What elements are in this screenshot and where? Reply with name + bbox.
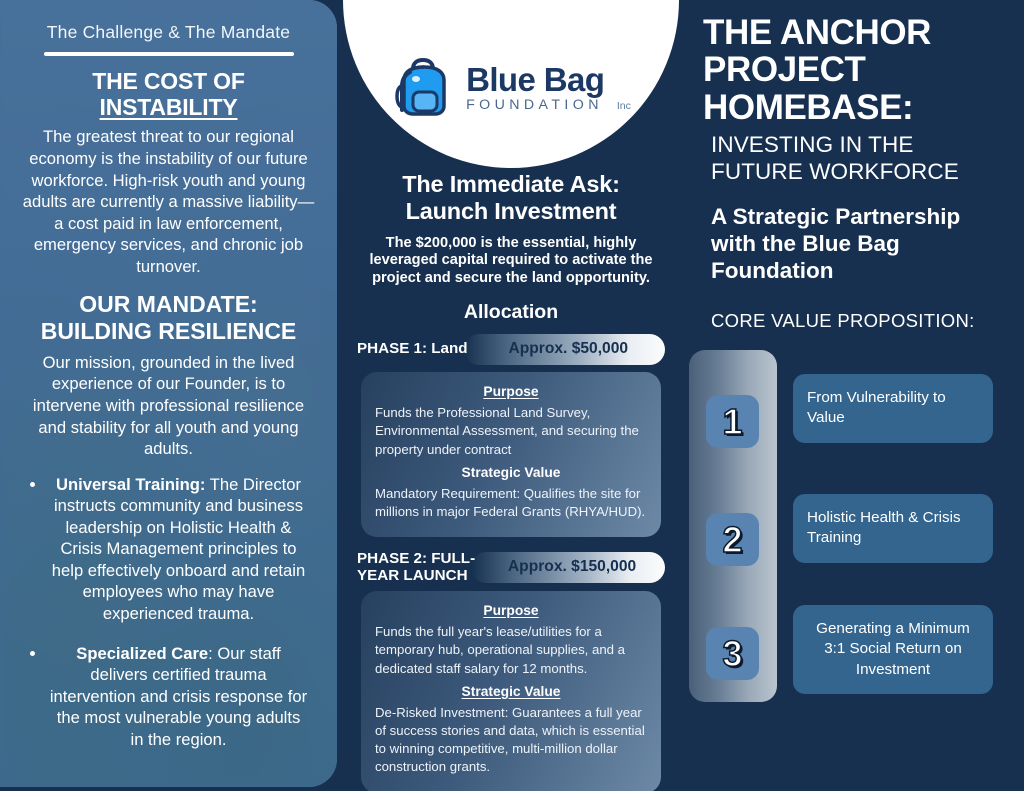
phase-1-label: PHASE 1: Land [357, 341, 474, 357]
bullet-dot-icon [30, 651, 35, 656]
phase-2-header: PHASE 2: FULL- YEAR LAUNCH Approx. $150,… [357, 551, 665, 584]
brochure-page: The Challenge & The Mandate THE COST OF … [0, 0, 1024, 791]
left-panel-content: The Challenge & The Mandate THE COST OF … [0, 0, 337, 778]
page-title-line3: HOMEBASE: [703, 88, 913, 127]
our-mandate-line1: OUR MANDATE: [79, 291, 257, 317]
phase-2-label: PHASE 2: FULL- YEAR LAUNCH [357, 551, 481, 584]
phase-1-value-text: Mandatory Requirement: Qualifies the sit… [375, 485, 647, 521]
page-title-line2: PROJECT [703, 50, 866, 89]
phase-2-value-text: De-Risked Investment: Guarantees a full … [375, 704, 647, 777]
status-badge: 2 [706, 513, 759, 566]
phase-2-value-label: Strategic Value [375, 682, 647, 701]
value-card-2: Holistic Health & Crisis Training [793, 494, 993, 562]
phase-1-amount-pill: Approx. $50,000 [464, 334, 665, 365]
logo-secondary-text: FOUNDATION [466, 98, 603, 112]
left-panel-challenge-mandate: The Challenge & The Mandate THE COST OF … [0, 0, 337, 787]
status-badge: 1 [706, 395, 759, 448]
eyebrow-divider [44, 52, 294, 56]
logo-wordmark: Blue Bag FOUNDATION Inc [466, 63, 631, 112]
blue-bag-foundation-logo: Blue Bag FOUNDATION Inc [343, 56, 679, 120]
phase-2-purpose-text: Funds the full year's lease/utilities fo… [375, 623, 647, 678]
core-value-proposition-label: CORE VALUE PROPOSITION: [711, 310, 1006, 332]
cost-of-instability-line2: INSTABILITY [100, 94, 238, 120]
list-item: Specialized Care: Our staff delivers cer… [22, 643, 315, 751]
status-badge: 3 [706, 627, 759, 680]
phase-1-card: Purpose Funds the Professional Land Surv… [361, 372, 661, 537]
cost-of-instability-line1: THE COST OF [92, 68, 244, 94]
immediate-ask-heading: The Immediate Ask: Launch Investment [349, 171, 673, 225]
page-subtitle: INVESTING IN THE FUTURE WORKFORCE [711, 132, 1006, 185]
our-mandate-line2: BUILDING RESILIENCE [41, 318, 297, 344]
backpack-icon [391, 56, 457, 120]
immediate-ask-line1: The Immediate Ask: [402, 171, 620, 197]
immediate-ask-lead: The $200,000 is the essential, highly le… [355, 235, 667, 288]
our-mandate-heading: OUR MANDATE: BUILDING RESILIENCE [22, 291, 315, 343]
cost-of-instability-heading: THE COST OF INSTABILITY [22, 68, 315, 120]
mandate-bullet-list: Universal Training: The Director instruc… [22, 474, 315, 751]
logo-inc-text: Inc [617, 101, 631, 113]
page-subtitle-line2: FUTURE WORKFORCE [711, 159, 959, 184]
phase-1-purpose-label: Purpose [375, 382, 647, 401]
logo-circle-background: Blue Bag FOUNDATION Inc [343, 0, 679, 168]
value-card-1: From Vulnerability to Value [793, 374, 993, 442]
partnership-statement: A Strategic Partnership with the Blue Ba… [711, 203, 1006, 284]
phase-2-amount-pill: Approx. $150,000 [471, 552, 665, 583]
allocation-heading: Allocation [349, 301, 673, 324]
bullet-title: Universal Training: [56, 475, 205, 494]
phase-1-value-label: Strategic Value [375, 463, 647, 482]
logo-secondary-row: FOUNDATION Inc [466, 96, 631, 112]
logo-primary-text: Blue Bag [466, 63, 631, 96]
page-title-line1: THE ANCHOR [703, 13, 931, 52]
right-panel-overview: THE ANCHOR PROJECT HOMEBASE: INVESTING I… [685, 0, 1024, 791]
list-item: Universal Training: The Director instruc… [22, 474, 315, 625]
core-value-proposition-list: 1 From Vulnerability to Value 2 Holistic… [685, 350, 1024, 710]
phase-2-card: Purpose Funds the full year's lease/util… [361, 591, 661, 791]
phase-1-purpose-text: Funds the Professional Land Survey, Envi… [375, 404, 647, 459]
bullet-dot-icon [30, 482, 35, 487]
cost-of-instability-body: The greatest threat to our regional econ… [22, 126, 315, 277]
immediate-ask-line2: Launch Investment [406, 198, 617, 224]
page-title: THE ANCHOR PROJECT HOMEBASE: [703, 14, 1006, 126]
page-subtitle-line1: INVESTING IN THE [711, 132, 913, 157]
center-panel-investment: Blue Bag FOUNDATION Inc The Immediate As… [337, 0, 685, 791]
bullet-title: Specialized Care [76, 644, 208, 663]
bullet-text: The Director instructs community and bus… [52, 475, 305, 623]
our-mandate-body: Our mission, grounded in the lived exper… [22, 352, 315, 460]
center-panel-content: The Immediate Ask: Launch Investment The… [337, 165, 685, 791]
phase-1-header: PHASE 1: Land Approx. $50,000 [357, 334, 665, 365]
value-card-3: Generating a Minimum 3:1 Social Return o… [793, 605, 993, 693]
phase-2-purpose-label: Purpose [375, 601, 647, 620]
left-eyebrow-title: The Challenge & The Mandate [22, 22, 315, 43]
